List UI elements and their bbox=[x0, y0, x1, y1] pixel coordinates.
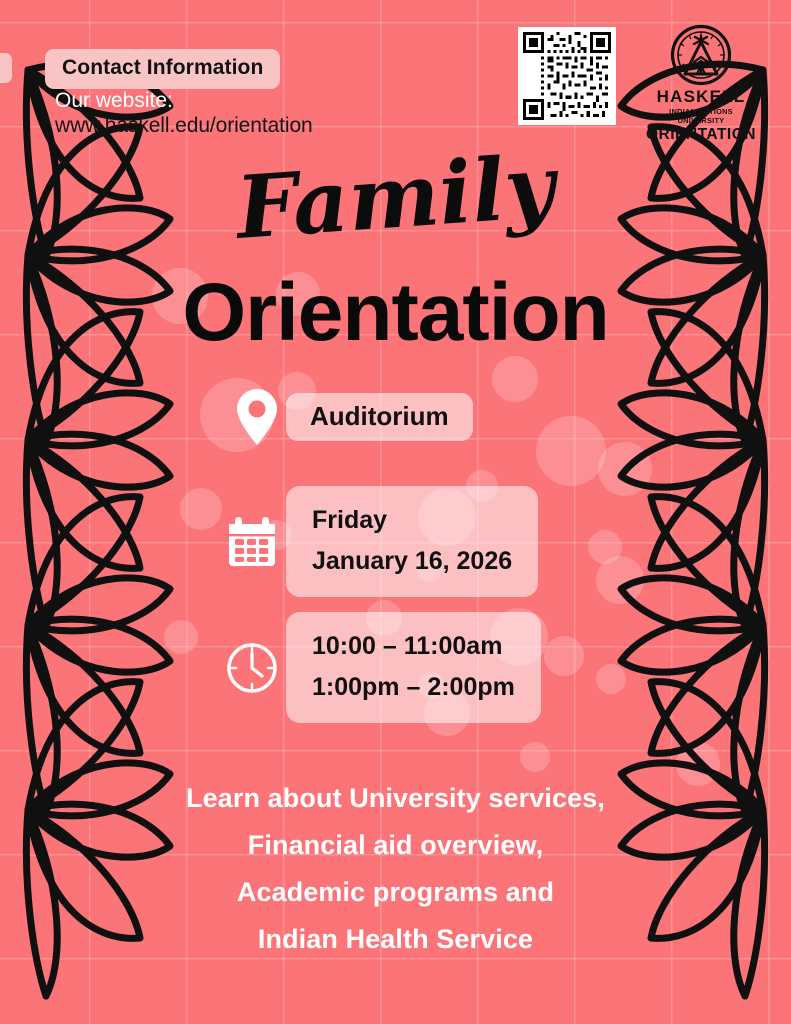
footer-line-4: Indian Health Service bbox=[0, 916, 791, 963]
footer-line-3: Academic programs and bbox=[0, 869, 791, 916]
detail-row-date: Friday January 16, 2026 bbox=[218, 486, 538, 597]
footer-line-2: Financial aid overview, bbox=[0, 822, 791, 869]
bubble bbox=[588, 530, 622, 564]
teepee-circle-icon bbox=[670, 24, 732, 86]
title-script-family: Family bbox=[0, 128, 791, 269]
time-pill: 10:00 – 11:00am 1:00pm – 2:00pm bbox=[286, 612, 541, 723]
page-title: Orientation bbox=[0, 272, 791, 354]
location-pill: Auditorium bbox=[286, 393, 473, 442]
contact-information-badge: Contact Information bbox=[45, 49, 280, 89]
detail-row-location: Auditorium bbox=[228, 388, 473, 446]
qr-code-icon[interactable] bbox=[518, 27, 616, 125]
time-morning: 10:00 – 11:00am bbox=[312, 626, 515, 667]
bubble bbox=[596, 556, 644, 604]
bubble bbox=[544, 636, 584, 676]
bubble bbox=[164, 620, 198, 654]
logo-line-haskell: HASKELL bbox=[645, 87, 757, 107]
footer-line-1: Learn about University services, bbox=[0, 775, 791, 822]
bubble bbox=[598, 442, 652, 496]
edge-accent-chip bbox=[0, 53, 12, 83]
date-full: January 16, 2026 bbox=[312, 541, 512, 582]
logo-line-university: INDIAN NATIONS UNIVERSITY bbox=[645, 107, 757, 125]
clock-icon bbox=[218, 641, 286, 695]
website-label: Our website: bbox=[55, 89, 173, 113]
bubble bbox=[180, 488, 222, 530]
calendar-icon bbox=[218, 515, 286, 569]
website-url-link[interactable]: www.haskell.edu/orientation bbox=[55, 114, 313, 138]
detail-row-time: 10:00 – 11:00am 1:00pm – 2:00pm bbox=[218, 612, 541, 723]
footer-description: Learn about University services, Financi… bbox=[0, 775, 791, 963]
bubble bbox=[536, 416, 606, 486]
map-pin-icon bbox=[228, 388, 286, 446]
haskell-orientation-logo: HASKELL INDIAN NATIONS UNIVERSITY ORIENT… bbox=[645, 24, 757, 144]
location-text: Auditorium bbox=[310, 402, 449, 431]
date-weekday: Friday bbox=[312, 500, 512, 541]
poster-canvas: Contact Information Our website: www.has… bbox=[0, 0, 791, 1024]
date-pill: Friday January 16, 2026 bbox=[286, 486, 538, 597]
bubble bbox=[520, 742, 550, 772]
bubble bbox=[596, 664, 626, 694]
time-afternoon: 1:00pm – 2:00pm bbox=[312, 667, 515, 708]
bubble bbox=[492, 356, 538, 402]
